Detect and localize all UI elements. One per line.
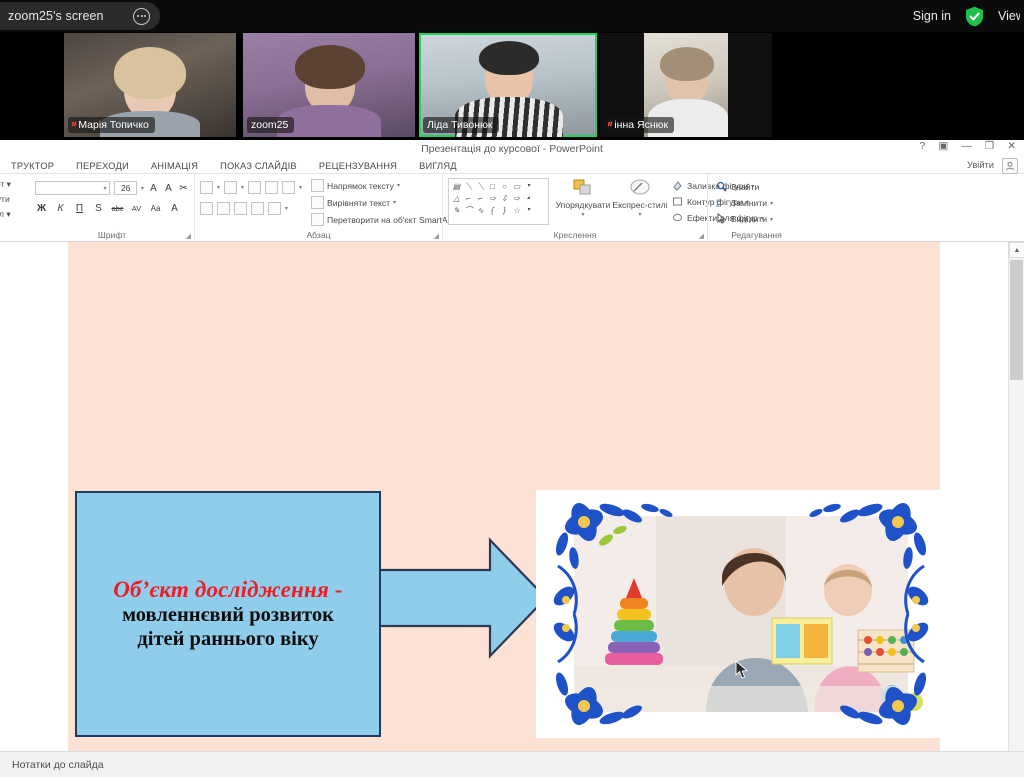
participant-name-badge: 𝄥 інна Яснюк — [604, 117, 674, 133]
justify-icon[interactable] — [251, 202, 264, 215]
group-label-editing: Редагування — [708, 230, 805, 240]
underline-icon[interactable]: П — [73, 203, 86, 214]
italic-icon[interactable]: К — [54, 203, 67, 214]
restore-icon[interactable]: ❐ — [985, 141, 994, 152]
participant-tile[interactable]: zoom25 — [243, 33, 415, 137]
textbox-body: мовленнєвий розвитокдітей раннього віку — [122, 603, 334, 651]
participant-name: zoom25 — [251, 119, 288, 131]
participant-tile[interactable]: 𝄥 Марія Топичко — [64, 33, 236, 137]
smartart-icon — [311, 213, 324, 226]
decrease-indent-icon[interactable] — [248, 181, 261, 194]
slide-editing-area[interactable]: Об’єкт дослідження - мовленнєвий розвито… — [0, 242, 1024, 757]
columns-icon[interactable] — [268, 202, 281, 215]
align-right-icon[interactable] — [234, 202, 247, 215]
group-label-drawing: Креслення — [443, 230, 707, 240]
participant-name-badge: 𝄥 Марія Топичко — [68, 117, 155, 133]
clear-formatting-icon[interactable]: ✂ — [178, 183, 189, 194]
zoom-sign-in-link[interactable]: Sign in — [913, 9, 951, 23]
numbered-list-icon[interactable] — [224, 181, 237, 194]
slide-canvas[interactable]: Об’єкт дослідження - мовленнєвий розвито… — [0, 242, 1008, 757]
tab-pokaz-slaydiv[interactable]: ПОКАЗ СЛАЙДІВ — [209, 161, 308, 171]
font-size-caret-icon[interactable]: ▾ — [141, 185, 144, 192]
mic-muted-icon: 𝄥 — [607, 120, 613, 131]
align-left-icon[interactable] — [200, 202, 213, 215]
clipped-item-section[interactable]: діл ▾ — [0, 207, 30, 222]
group-label-font: Шрифт — [30, 230, 194, 240]
textbox-heading: Об’єкт дослідження - — [113, 577, 343, 603]
participant-tile[interactable]: 𝄥 інна Яснюк — [600, 33, 772, 137]
slide-vertical-scrollbar[interactable]: ▲ — [1008, 242, 1024, 757]
select-button[interactable]: Виділити ▾ — [713, 212, 800, 226]
notes-bar[interactable]: Нотатки до слайда — [0, 751, 1024, 777]
participant-name: Ліда Тивонюк — [427, 119, 493, 131]
zoom-top-right: Sign in View — [913, 0, 1024, 32]
change-case-icon[interactable]: Аа — [149, 204, 162, 213]
tab-animatsiya[interactable]: АНІМАЦІЯ — [140, 161, 209, 171]
participant-tile-active[interactable]: Ліда Тивонюк — [419, 33, 597, 137]
replace-icon: ab ac — [716, 197, 728, 209]
participant-name: Марія Топичко — [78, 119, 149, 131]
window-controls: ? ▣ — ❐ ✕ — [920, 141, 1017, 152]
participant-name-badge: zoom25 — [247, 117, 294, 133]
green-shield-check-icon[interactable] — [965, 6, 984, 27]
find-icon — [716, 181, 728, 193]
textbox-object-of-research[interactable]: Об’єкт дослідження - мовленнєвий розвито… — [75, 491, 381, 737]
shape-fill-icon — [672, 180, 684, 192]
grow-font-icon[interactable]: A — [148, 183, 159, 194]
tab-vyhlyad[interactable]: ВИГЛЯД — [408, 161, 468, 171]
shapes-gallery[interactable]: ▤＼＼□○▭▾ △⌐⌐⇨⇩⇨▴ ✎⌒∿{}☆▾ — [448, 178, 549, 225]
text-direction-icon — [311, 179, 324, 192]
participant-name-badge: Ліда Тивонюк — [423, 117, 499, 133]
clipped-item-layout[interactable]: кет ▾ — [0, 177, 30, 192]
font-dialog-launcher-icon[interactable]: ◢ — [186, 232, 191, 240]
ribbon-clipped-column: кет ▾ нути діл ▾ — [0, 174, 30, 241]
participant-name: інна Яснюк — [614, 119, 668, 131]
account-avatar-icon[interactable] — [1002, 158, 1018, 174]
powerpoint-window: Презентація до курсової - PowerPoint ? ▣… — [0, 140, 1024, 777]
paragraph-dialog-launcher-icon[interactable]: ◢ — [434, 232, 439, 240]
shrink-font-icon[interactable]: A — [163, 183, 174, 194]
quick-styles-button[interactable]: Експрес-стилі ▾ — [617, 178, 663, 225]
font-color-icon[interactable]: A — [168, 203, 181, 214]
screen-share-pill[interactable]: zoom25's screen — [0, 2, 160, 30]
window-title: Презентація до курсової - PowerPoint — [421, 143, 603, 155]
mouse-cursor-icon — [735, 660, 749, 680]
participant-video-strip: 𝄥 Марія Топичко zoom25 Ліда Тивонюк — [0, 32, 1024, 140]
increase-indent-icon[interactable] — [265, 181, 278, 194]
tab-perehody[interactable]: ПЕРЕХОДИ — [65, 161, 140, 171]
ribbon-group-drawing: ▤＼＼□○▭▾ △⌐⌐⇨⇩⇨▴ ✎⌒∿{}☆▾ Упорядкувати ▾ — [442, 174, 707, 241]
replace-button[interactable]: ab ac Замінити ▾ — [713, 196, 800, 210]
group-label-paragraph: Абзац — [195, 230, 442, 240]
bulleted-list-icon[interactable] — [200, 181, 213, 194]
arrange-button[interactable]: Упорядкувати ▾ — [555, 178, 611, 225]
right-arrow-shape[interactable] — [372, 534, 548, 662]
framed-photo-mother-and-baby[interactable] — [536, 490, 946, 738]
ribbon-display-options-icon[interactable]: ▣ — [938, 141, 948, 152]
help-icon[interactable]: ? — [920, 141, 926, 152]
screen-share-label: zoom25's screen — [8, 9, 104, 23]
ribbon-tab-bar: ТРУКТОР ПЕРЕХОДИ АНІМАЦІЯ ПОКАЗ СЛАЙДІВ … — [0, 158, 1024, 174]
text-shadow-icon[interactable]: S — [92, 203, 105, 214]
scroll-thumb[interactable] — [1010, 260, 1023, 380]
close-icon[interactable]: ✕ — [1007, 141, 1016, 152]
scroll-up-arrow-icon[interactable]: ▲ — [1009, 242, 1024, 258]
ellipsis-icon[interactable] — [133, 8, 150, 25]
shape-effects-icon — [672, 212, 684, 224]
screen-root: zoom25's screen Sign in View — [0, 0, 1024, 777]
ribbon-group-paragraph: ▾ ▾ ▾ ▾ — [194, 174, 442, 241]
powerpoint-titlebar: Презентація до курсової - PowerPoint ? ▣… — [0, 140, 1024, 158]
character-spacing-icon[interactable]: AV — [130, 204, 143, 213]
font-name-combo[interactable]: ▾ — [35, 181, 110, 195]
bold-icon[interactable]: Ж — [35, 203, 48, 214]
mic-muted-icon: 𝄥 — [71, 120, 77, 131]
select-icon — [716, 213, 728, 225]
align-text-button[interactable]: Вирівняти текст ▾ — [308, 195, 462, 210]
svg-text:ac: ac — [716, 203, 721, 208]
tab-retsenzuvannya[interactable]: РЕЦЕНЗУВАННЯ — [308, 161, 408, 171]
drawing-dialog-launcher-icon[interactable]: ◢ — [699, 232, 704, 240]
minimize-icon[interactable]: — — [961, 141, 972, 152]
shape-outline-icon — [672, 196, 684, 208]
tab-konstruktor[interactable]: ТРУКТОР — [0, 161, 65, 171]
align-center-icon[interactable] — [217, 202, 230, 215]
notes-placeholder: Нотатки до слайда — [12, 759, 104, 771]
photo-image — [536, 490, 946, 738]
zoom-top-bar: zoom25's screen Sign in View — [0, 0, 1024, 32]
line-spacing-icon[interactable] — [282, 181, 295, 194]
ribbon-group-font: ▾ 26 ▾ A A ✂ Ж К П S abc AV Аа A Шр — [30, 174, 194, 241]
zoom-view-label[interactable]: View — [998, 9, 1020, 23]
ribbon-group-editing: Знайти ab ac Замінити ▾ — [707, 174, 805, 241]
ribbon: кет ▾ нути діл ▾ ▾ 26 ▾ A A ✂ Ж К П — [0, 174, 1024, 242]
find-button[interactable]: Знайти — [713, 180, 800, 194]
text-direction-button[interactable]: Напрямок тексту ▾ — [308, 178, 462, 193]
align-text-icon — [311, 196, 324, 209]
powerpoint-sign-in-link[interactable]: Увійти — [967, 160, 994, 170]
clipped-item-reset[interactable]: нути — [0, 192, 30, 207]
strikethrough-icon[interactable]: abc — [111, 204, 124, 213]
font-size-combo[interactable]: 26 — [114, 181, 136, 195]
convert-smartart-button[interactable]: Перетворити на об'єкт SmartArt ▾ — [308, 212, 462, 227]
